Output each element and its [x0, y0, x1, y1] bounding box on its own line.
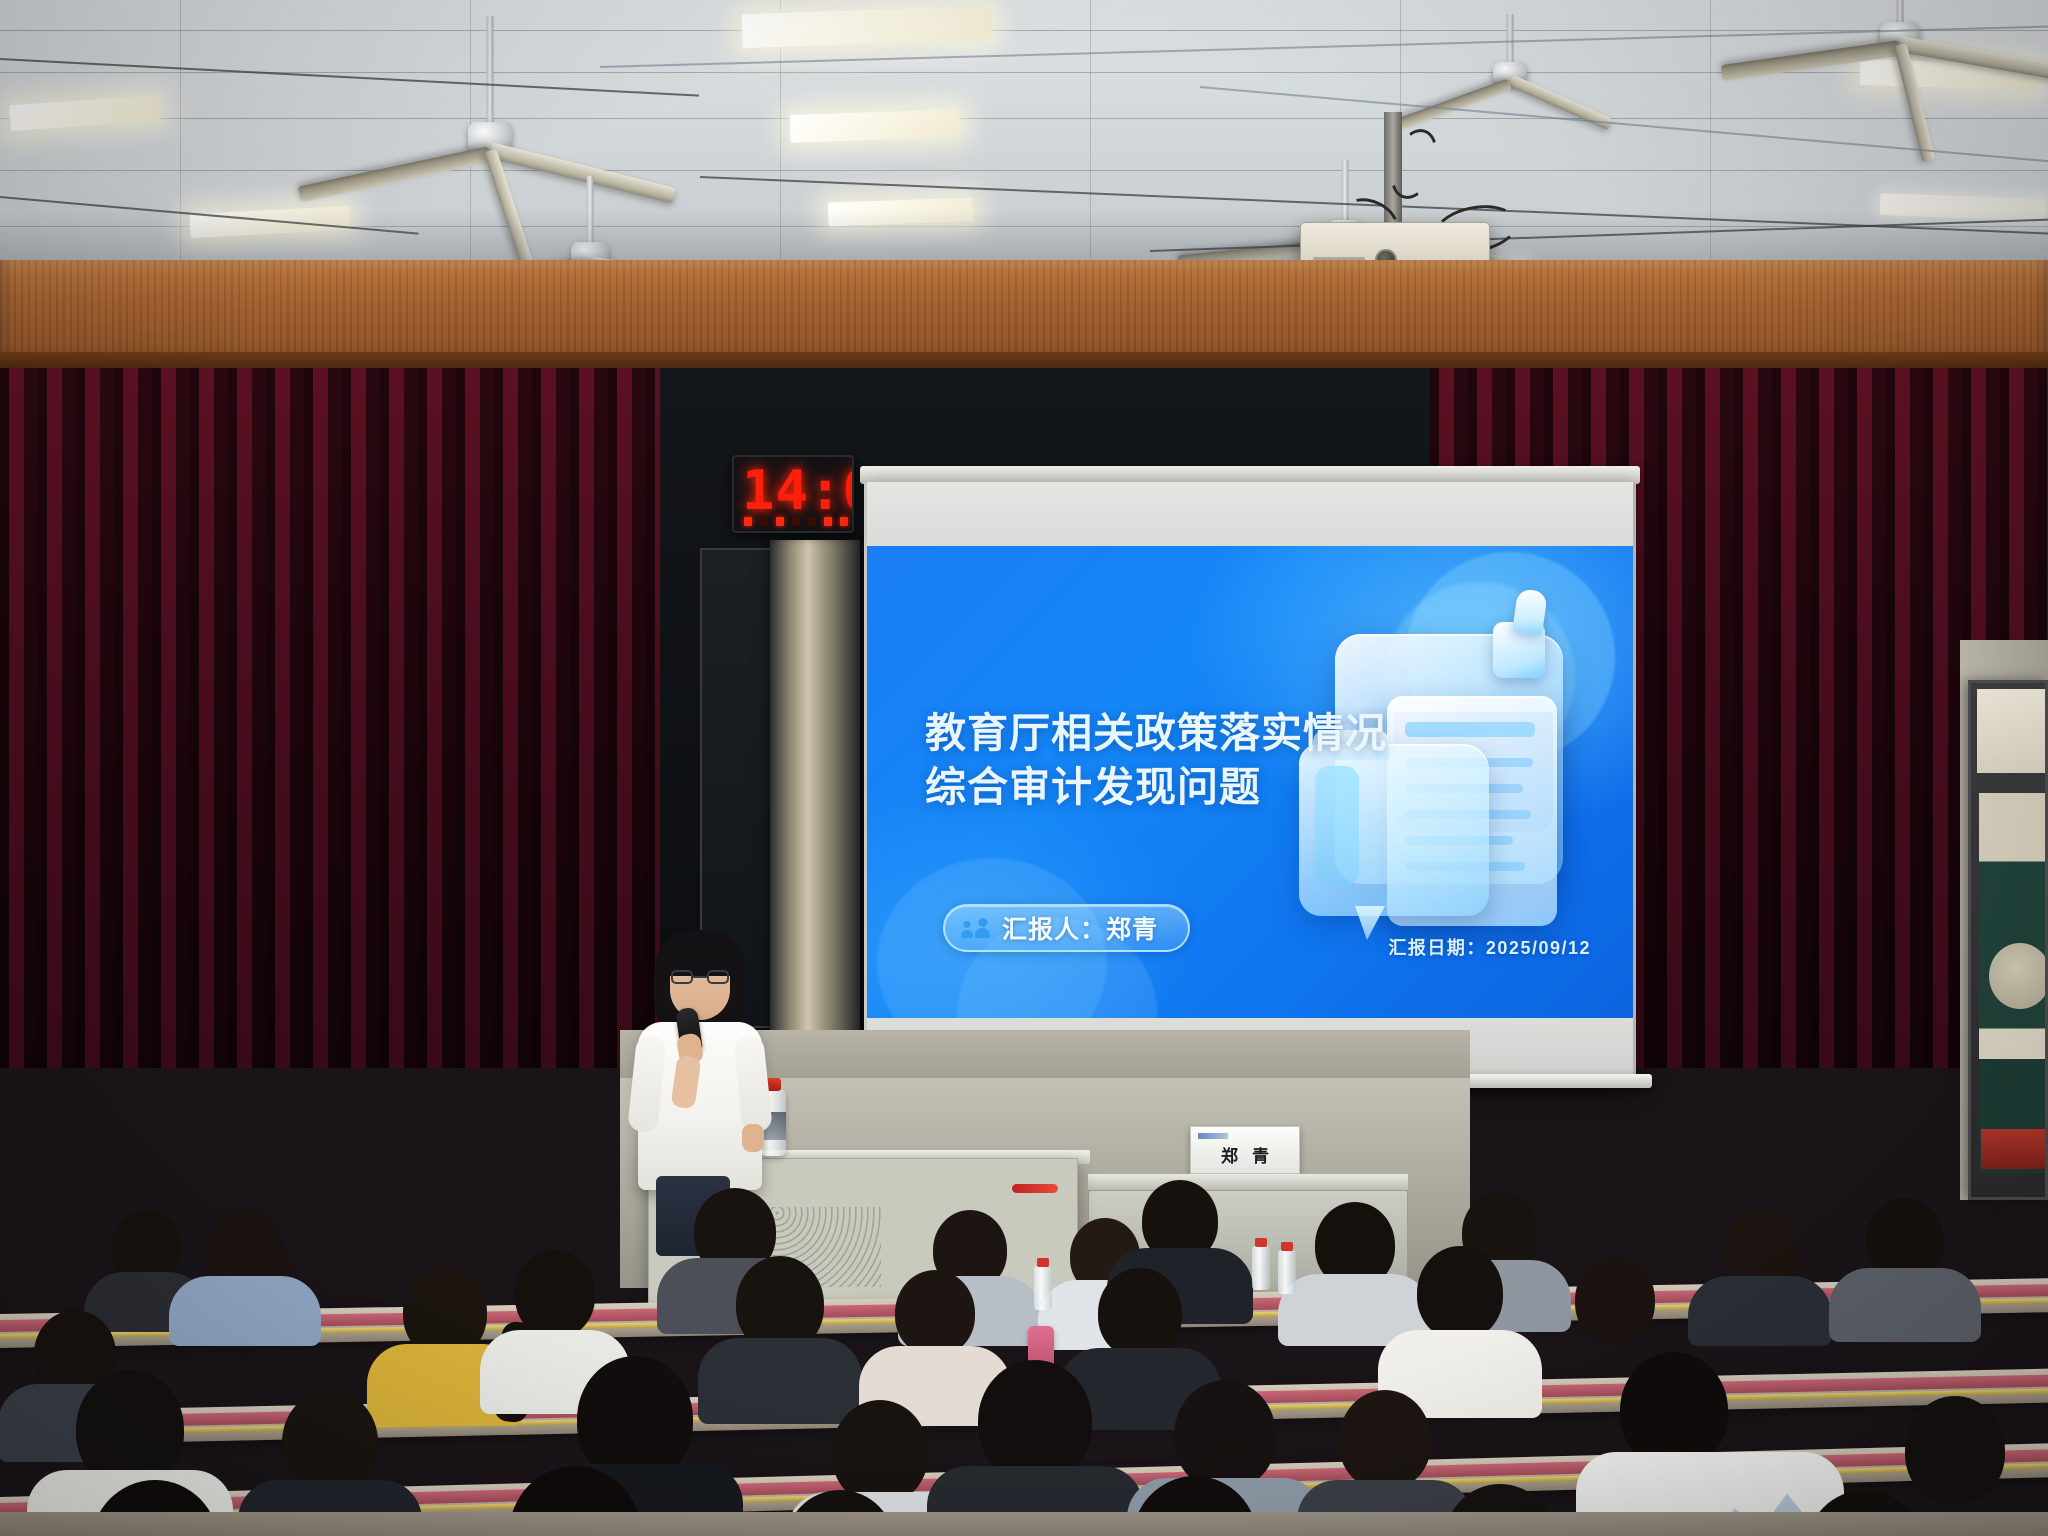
aisle-floor: [0, 1512, 2048, 1536]
thumbs-up-icon: [1489, 588, 1573, 682]
glasses-icon: [671, 970, 729, 984]
audience-person: [1830, 1198, 1980, 1324]
presenter-badge: 汇报人：郑青: [943, 904, 1190, 952]
screen-blank-top: [867, 482, 1633, 546]
audience-area: CHINESE NATIONAL: [0, 1060, 2048, 1536]
slide-title-line2: 综合审计发现问题: [925, 760, 1261, 816]
presenter-name-label: 汇报人：郑青: [1002, 910, 1158, 946]
presentation-slide: 教育厅相关政策落实情况 综合审计发现问题 汇报人：郑青 汇报日期：2025/09…: [867, 546, 1633, 1018]
projection-screen: 教育厅相关政策落实情况 综合审计发现问题 汇报人：郑青 汇报日期：2025/09…: [864, 482, 1636, 1078]
ceiling: [0, 0, 2048, 300]
ceiling-light: [9, 95, 160, 131]
water-bottle: [1034, 1266, 1052, 1310]
lecture-hall-photo: 14:08: [0, 0, 2048, 1536]
water-bottle: [1252, 1246, 1270, 1290]
people-icon: [961, 918, 990, 938]
ceiling-light: [790, 109, 961, 143]
stage-window-frame: [770, 540, 860, 1040]
slide-title-line1: 教育厅相关政策落实情况: [925, 706, 1387, 762]
poster-portrait: [1989, 943, 2048, 1009]
clock-time: 14:08: [742, 459, 854, 522]
ceiling-fan: [300, 16, 680, 196]
report-date-label: 汇报日期：2025/09/12: [1388, 934, 1591, 960]
water-bottle: [1278, 1250, 1296, 1294]
audience-person: [170, 1208, 320, 1328]
ceiling-light: [741, 6, 992, 49]
led-segment-indicators: [744, 517, 848, 526]
led-wall-clock: 14:08: [732, 455, 854, 533]
ceiling-fan: [1730, 0, 2048, 170]
stage-curtain-left: [0, 368, 660, 1068]
folder-icon: [1299, 744, 1489, 916]
audience-person: [1690, 1210, 1830, 1330]
